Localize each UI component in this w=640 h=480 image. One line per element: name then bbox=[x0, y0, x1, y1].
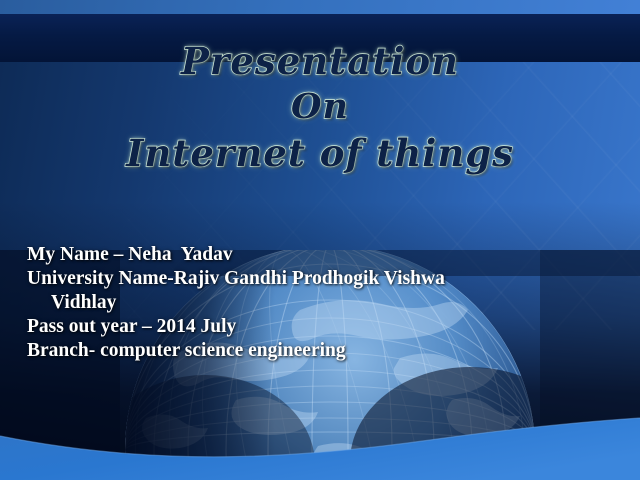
body-line-pass-out-year: Pass out year – 2014 July bbox=[27, 315, 587, 339]
top-light-strip bbox=[0, 0, 640, 14]
presentation-slide: Presentation On Internet of things My Na… bbox=[0, 0, 640, 480]
body-line-university-cont: Vidhlay bbox=[27, 291, 587, 315]
body-line-name: My Name – Neha Yadav bbox=[27, 243, 587, 267]
body-line-university: University Name-Rajiv Gandhi Prodhogik V… bbox=[27, 267, 587, 291]
slide-body: My Name – Neha Yadav University Name-Raj… bbox=[27, 243, 587, 363]
title-band bbox=[0, 14, 640, 62]
body-line-branch: Branch- computer science engineering bbox=[27, 339, 587, 363]
wave-graphic bbox=[0, 410, 640, 480]
